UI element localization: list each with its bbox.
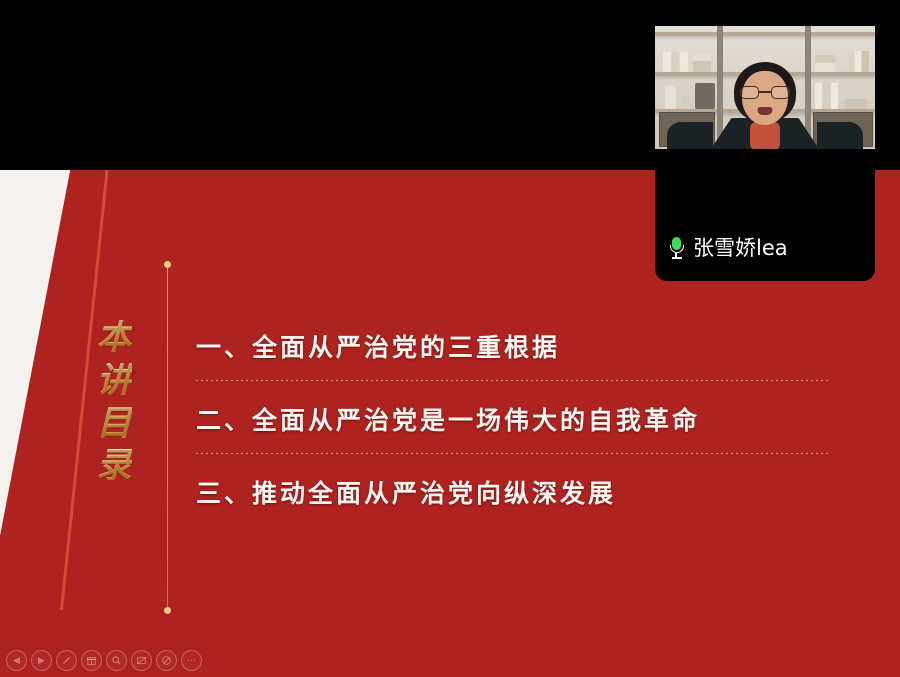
book <box>815 55 835 63</box>
mute-icon <box>161 655 172 666</box>
vertical-title-char-4: 录 <box>96 448 131 485</box>
book <box>815 63 835 72</box>
glasses-bridge <box>759 91 771 93</box>
vertical-title-char-2: 讲 <box>96 363 131 400</box>
person-shoulder-right <box>817 122 863 149</box>
book <box>855 51 861 72</box>
participant-name-plate: 张雪娇lea <box>669 237 788 259</box>
pen-tool-button[interactable] <box>56 650 77 671</box>
glasses-lens-left <box>740 86 759 99</box>
agenda-item-label: 一、全面从严治党的三重根据 <box>196 328 560 364</box>
book <box>663 52 671 72</box>
book <box>672 52 679 72</box>
book <box>693 54 711 61</box>
gift-icon <box>86 655 97 666</box>
zoom-button[interactable] <box>106 650 127 671</box>
magnifier-icon <box>111 655 122 666</box>
agenda-item: 二、全面从严治党是一场伟大的自我革命 <box>196 393 836 466</box>
gold-rule-top-dot <box>164 261 171 268</box>
book <box>841 51 847 72</box>
book <box>823 83 830 109</box>
slide-control-toolbar[interactable]: ◀ ▶ <box>6 650 202 671</box>
ellipsis-icon: ⋯ <box>187 656 196 665</box>
participant-video-tile[interactable]: 张雪娇lea <box>655 0 875 281</box>
screenshot-button[interactable] <box>131 650 152 671</box>
agenda-item-label: 三、推动全面从严治党向纵深发展 <box>196 474 616 510</box>
vase <box>665 85 676 109</box>
vertical-title-char-1: 本 <box>96 320 131 357</box>
agenda-item: 三、推动全面从严治党向纵深发展 <box>196 466 836 539</box>
agenda-item: 一、全面从严治党的三重根据 <box>196 320 836 393</box>
decor-object <box>681 95 690 109</box>
glasses-lens-right <box>771 86 790 99</box>
decor-box <box>695 83 715 109</box>
mic-base <box>672 257 682 259</box>
book <box>680 52 688 72</box>
gift-button[interactable] <box>81 650 102 671</box>
glasses-icon <box>740 86 790 99</box>
more-options-button[interactable]: ⋯ <box>181 650 202 671</box>
person-mouth <box>758 107 773 115</box>
book <box>693 61 711 72</box>
screenshot-icon <box>136 655 147 666</box>
agenda-list: 一、全面从严治党的三重根据 二、全面从严治党是一场伟大的自我革命 三、推动全面从… <box>196 320 836 539</box>
previous-slide-button[interactable]: ◀ <box>6 650 27 671</box>
book <box>831 83 838 109</box>
triangle-left-icon: ◀ <box>13 656 20 665</box>
participant-name-label: 张雪娇lea <box>693 238 788 259</box>
book <box>862 51 869 72</box>
person-shoulder-left <box>667 122 713 149</box>
agenda-separator <box>196 380 829 381</box>
vertical-title-char-3: 目 <box>96 406 131 443</box>
agenda-separator <box>196 453 829 454</box>
agenda-item-label: 二、全面从严治党是一场伟大的自我革命 <box>196 401 700 437</box>
video-feed <box>655 26 875 149</box>
pen-icon <box>61 655 72 666</box>
gold-rule-bottom-dot <box>164 607 171 614</box>
shelf-post <box>717 26 723 149</box>
next-slide-button[interactable]: ▶ <box>31 650 52 671</box>
person-scarf <box>750 122 780 149</box>
microphone-icon[interactable] <box>669 237 684 259</box>
book <box>848 51 854 72</box>
triangle-right-icon: ▶ <box>38 656 45 665</box>
decorative-vertical-gold-rule <box>167 264 168 610</box>
book <box>815 83 822 109</box>
mute-button[interactable] <box>156 650 177 671</box>
screen-share-view: 本 讲 目 录 一、全面从严治党的三重根据 二、全面从严治党是一场伟大的自我革命… <box>0 0 900 677</box>
slide-vertical-title: 本 讲 目 录 <box>84 320 144 485</box>
book <box>845 99 867 109</box>
shelf-board <box>655 32 875 36</box>
